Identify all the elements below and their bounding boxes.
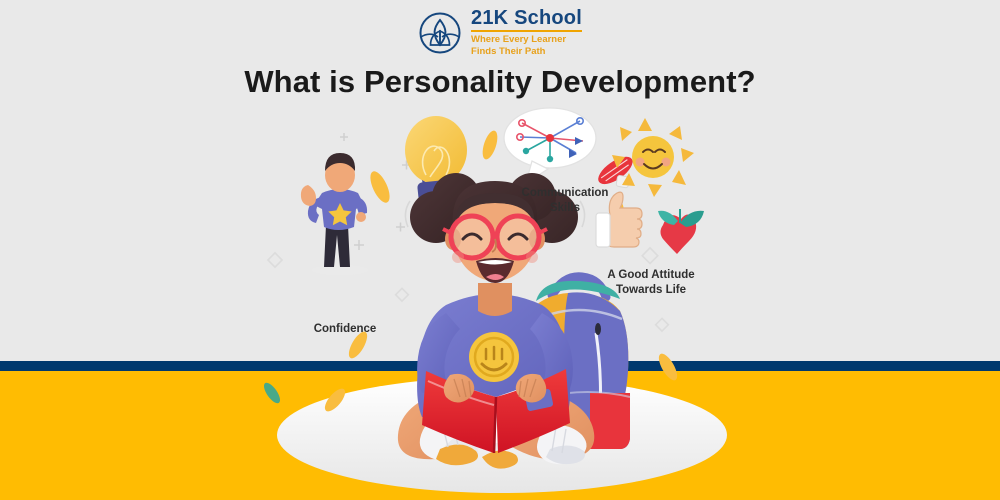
label-attitude-line1: A Good Attitude [593, 268, 709, 283]
label-attitude-line2: Towards Life [593, 283, 709, 298]
brand-name: 21K School [471, 8, 582, 28]
speech-bubble-network-icon [504, 108, 596, 183]
heart-apple-icon [658, 209, 704, 254]
brand-tagline-line2: Finds Their Path [471, 46, 582, 58]
brand-logo: 21K School Where Every Learner Finds The… [0, 8, 1000, 57]
leaf-teal-icon [261, 380, 283, 405]
brand-tagline-line1: Where Every Learner [471, 34, 582, 46]
smiley-badge-icon [469, 332, 519, 382]
hero-illustration [250, 105, 750, 500]
label-good-attitude: A Good Attitude Towards Life [593, 268, 709, 298]
lotus-circle-icon [418, 11, 462, 55]
confidence-figure-icon [301, 153, 368, 275]
page-title: What is Personality Development? [0, 64, 1000, 100]
label-communication-line1: Communication [505, 186, 625, 201]
brand-rule [471, 30, 582, 32]
label-communication-skills: Communication Skills [505, 186, 625, 216]
label-communication-line2: Skills [505, 201, 625, 216]
label-confidence: Confidence [295, 322, 395, 337]
poster-canvas: 21K School Where Every Learner Finds The… [0, 0, 1000, 500]
